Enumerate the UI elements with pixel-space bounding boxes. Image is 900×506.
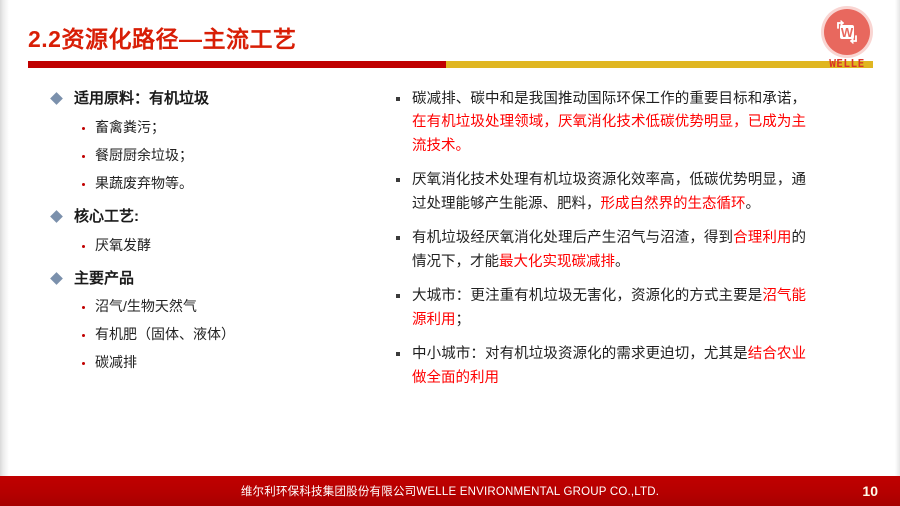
highlighted-text-segment: 形成自然界的生态循环	[601, 196, 746, 212]
right-bullet-item: 厌氧消化技术处理有机垃圾资源化效率高，低碳优势明显，通过处理能够产生能源、肥料，…	[396, 169, 806, 216]
right-bullet-item: 中小城市：对有机垃圾资源化的需求更迫切，尤其是结合农业做全面的利用	[396, 343, 806, 390]
slide-left-edge	[0, 0, 9, 506]
slide-right-edge	[895, 0, 900, 506]
square-bullet-icon	[396, 294, 400, 298]
page-number: 10	[862, 483, 878, 499]
slide: 2.2资源化路径—主流工艺 W WELLE 适用原料：有机垃圾畜禽粪污；餐厨厨余…	[0, 0, 900, 506]
text-segment: 。	[615, 254, 630, 270]
left-group-heading-label: 主要产品	[74, 268, 134, 290]
highlighted-text-segment: 合理利用	[733, 230, 791, 246]
diamond-bullet-icon	[50, 92, 63, 105]
left-list-item-label: 果蔬废弃物等。	[95, 173, 193, 194]
square-bullet-icon	[396, 236, 400, 240]
left-list-item: 沼气/生物天然气	[82, 296, 382, 317]
dot-bullet-icon	[82, 334, 85, 337]
left-list-item: 畜禽粪污；	[82, 117, 382, 138]
right-bullet-text: 大城市：更注重有机垃圾无害化，资源化的方式主要是沼气能源利用；	[412, 285, 806, 332]
footer-company-name: 维尔利环保科技集团股份有限公司WELLE ENVIRONMENTAL GROUP…	[0, 483, 900, 499]
title-divider	[28, 61, 873, 68]
right-bullet-text: 有机垃圾经厌氧消化处理后产生沼气与沼渣，得到合理利用的情况下，才能最大化实现碳减…	[412, 227, 806, 274]
right-bullet-item: 有机垃圾经厌氧消化处理后产生沼气与沼渣，得到合理利用的情况下，才能最大化实现碳减…	[396, 227, 806, 274]
left-list-item-label: 厌氧发酵	[95, 235, 151, 256]
text-segment: ；	[456, 312, 471, 328]
dot-bullet-icon	[82, 127, 85, 130]
left-list-item-label: 有机肥（固体、液体）	[95, 324, 235, 345]
svg-text:W: W	[841, 25, 854, 40]
left-list-item-label: 碳减排	[95, 352, 137, 373]
text-segment: 。	[746, 196, 761, 212]
right-bullet-item: 大城市：更注重有机垃圾无害化，资源化的方式主要是沼气能源利用；	[396, 285, 806, 332]
right-bullet-text: 中小城市：对有机垃圾资源化的需求更迫切，尤其是结合农业做全面的利用	[412, 343, 806, 390]
left-group-heading: 适用原料：有机垃圾	[52, 88, 382, 110]
left-content-column: 适用原料：有机垃圾畜禽粪污；餐厨厨余垃圾；果蔬废弃物等。核心工艺:厌氧发酵主要产…	[52, 88, 382, 380]
square-bullet-icon	[396, 352, 400, 356]
left-group-heading-label: 适用原料：有机垃圾	[74, 88, 209, 110]
left-list-item: 碳减排	[82, 352, 382, 373]
dot-bullet-icon	[82, 155, 85, 158]
highlighted-text-segment: 最大化实现碳减排	[499, 254, 615, 270]
dot-bullet-icon	[82, 306, 85, 309]
dot-bullet-icon	[82, 183, 85, 186]
left-list-item-label: 餐厨厨余垃圾；	[95, 145, 193, 166]
divider-red-segment	[28, 61, 446, 68]
left-group-heading: 核心工艺:	[52, 206, 382, 228]
text-segment: 碳减排、碳中和是我国推动国际环保工作的重要目标和承诺，	[412, 91, 806, 107]
text-segment: 中小城市：对有机垃圾资源化的需求更迫切，尤其是	[412, 346, 748, 362]
dot-bullet-icon	[82, 362, 85, 365]
right-bullet-item: 碳减排、碳中和是我国推动国际环保工作的重要目标和承诺，在有机垃圾处理领域，厌氧消…	[396, 88, 806, 158]
left-list-item: 厌氧发酵	[82, 235, 382, 256]
left-list-item: 果蔬废弃物等。	[82, 173, 382, 194]
text-segment: 大城市：更注重有机垃圾无害化，资源化的方式主要是	[412, 288, 762, 304]
square-bullet-icon	[396, 97, 400, 101]
logo-wordmark: WELLE	[819, 57, 875, 70]
square-bullet-icon	[396, 178, 400, 182]
dot-bullet-icon	[82, 245, 85, 248]
text-segment: 有机垃圾经厌氧消化处理后产生沼气与沼渣，得到	[412, 230, 733, 246]
highlighted-text-segment: 在有机垃圾处理领域，厌氧消化技术低碳优势明显，已成为主流技术。	[412, 114, 806, 153]
left-list-item: 餐厨厨余垃圾；	[82, 145, 382, 166]
left-list-item-label: 畜禽粪污；	[95, 117, 165, 138]
right-bullet-text: 碳减排、碳中和是我国推动国际环保工作的重要目标和承诺，在有机垃圾处理领域，厌氧消…	[412, 88, 806, 158]
left-group-heading-label: 核心工艺:	[74, 206, 139, 228]
left-group-heading: 主要产品	[52, 268, 382, 290]
company-logo: W WELLE	[819, 9, 875, 73]
page-title: 2.2资源化路径—主流工艺	[28, 20, 296, 54]
right-content-column: 碳减排、碳中和是我国推动国际环保工作的重要目标和承诺，在有机垃圾处理领域，厌氧消…	[396, 88, 806, 401]
diamond-bullet-icon	[50, 272, 63, 285]
divider-gold-segment	[446, 61, 873, 68]
footer-bar: 维尔利环保科技集团股份有限公司WELLE ENVIRONMENTAL GROUP…	[0, 476, 900, 506]
left-list-item: 有机肥（固体、液体）	[82, 324, 382, 345]
recycle-w-logo-icon: W	[824, 9, 870, 55]
diamond-bullet-icon	[50, 210, 63, 223]
left-list-item-label: 沼气/生物天然气	[95, 296, 197, 317]
right-bullet-text: 厌氧消化技术处理有机垃圾资源化效率高，低碳优势明显，通过处理能够产生能源、肥料，…	[412, 169, 806, 216]
